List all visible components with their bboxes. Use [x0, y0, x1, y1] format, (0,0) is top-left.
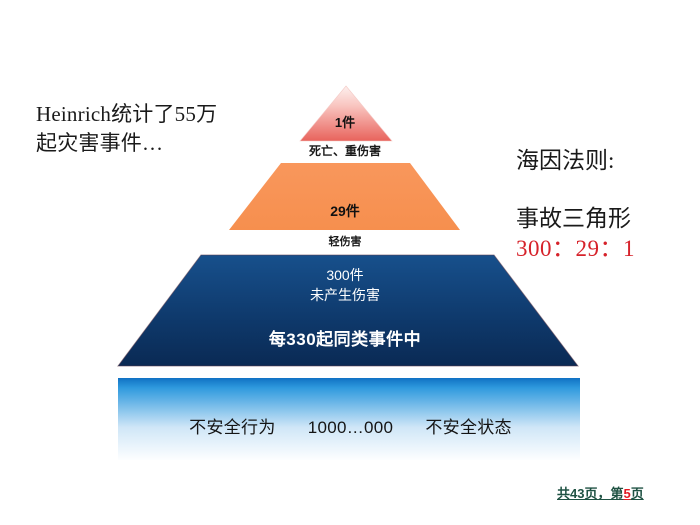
page-indicator-number: 5: [623, 486, 630, 501]
left-caption-text: Heinrich统计了55万起灾害事件…: [36, 100, 226, 158]
page-indicator-suffix: 页: [631, 486, 644, 501]
base-count: 1000…000: [308, 418, 394, 437]
tier-no-injury-text-group: 300件 未产生伤害: [285, 265, 405, 305]
tier-no-injury-label: 未产生伤害: [285, 285, 405, 305]
base-right-label: 不安全状态: [425, 418, 512, 437]
tier-minor-injury-value: 29件: [300, 201, 390, 221]
base-bar-text-group: 不安全行为 1000…000 不安全状态: [128, 413, 573, 438]
tier-no-injury-value: 300件: [285, 265, 405, 285]
right-caption-heading: 海因法则:: [516, 146, 691, 176]
tier-fatal-value: 1件: [305, 112, 385, 131]
tier-minor-injury-label: 轻伤害: [300, 233, 390, 249]
base-left-label: 不安全行为: [189, 418, 276, 437]
tier-no-injury-headline: 每330起同类事件中: [225, 325, 465, 350]
right-caption-group: 海因法则: 事故三角形 300：29：1: [516, 146, 691, 264]
right-caption-subheading: 事故三角形: [516, 204, 691, 234]
page-indicator[interactable]: 共43页，第5页: [557, 483, 644, 502]
tier-fatal-label: 死亡、重伤害: [275, 142, 415, 159]
right-caption-ratio: 300：29：1: [516, 234, 691, 264]
slide-canvas: Heinrich统计了55万起灾害事件…: [0, 0, 700, 525]
page-indicator-prefix: 共43页，第: [557, 486, 623, 501]
